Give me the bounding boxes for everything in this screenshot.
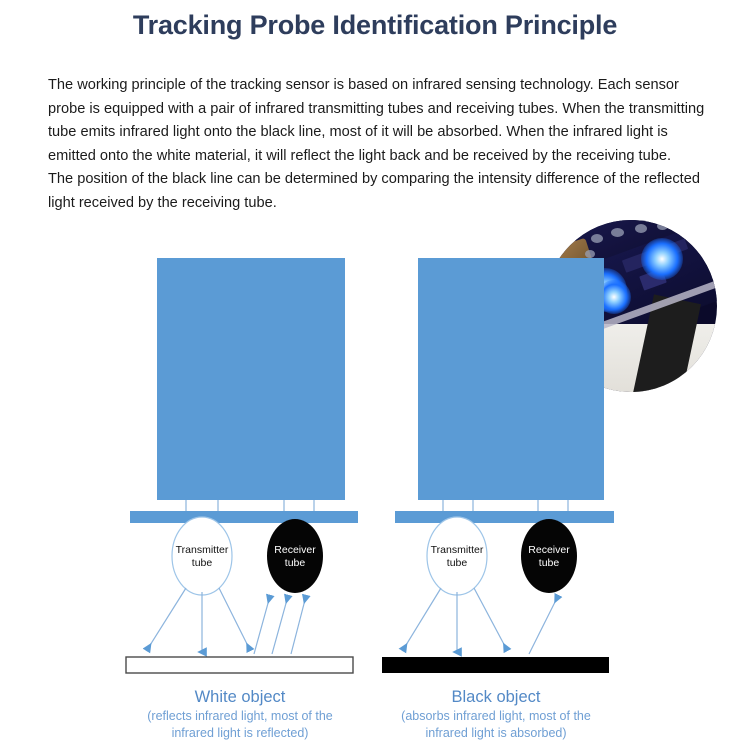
transmitter-tube-label-line1: Transmitter — [414, 544, 500, 557]
transmitter-tube-label-line2: tube — [414, 557, 500, 570]
emitted-ray — [403, 588, 441, 650]
receiver-tube-label: Receiver tube — [252, 544, 338, 570]
transmitter-tube-label-line1: Transmitter — [159, 544, 245, 557]
emitted-ray — [219, 588, 250, 650]
black-object-caption: Black object (absorbs infrared light, mo… — [371, 686, 621, 742]
black-object-surface — [382, 657, 609, 673]
led-indicator — [641, 238, 683, 280]
paragraph-2: The position of the black line can be de… — [48, 168, 710, 215]
paragraph-1: The working principle of the tracking se… — [48, 74, 710, 168]
black-object-subtitle-line1: (absorbs infrared light, most of the — [371, 708, 621, 725]
receiver-tube-label-line2: tube — [252, 557, 338, 570]
pcb-solder — [591, 234, 603, 243]
white-object-subtitle-line1: (reflects infrared light, most of the — [115, 708, 365, 725]
receiver-tube-label: Receiver tube — [506, 544, 592, 570]
emitted-ray — [147, 588, 186, 650]
white-object-diagram — [126, 258, 358, 673]
white-object-surface — [126, 657, 353, 673]
transmitter-tube-label-line2: tube — [159, 557, 245, 570]
reflected-ray — [254, 596, 270, 654]
white-object-subtitle-line2: infrared light is reflected) — [115, 725, 365, 742]
sensor-board-photo — [545, 220, 717, 392]
pcb-solder — [611, 228, 624, 237]
reflected-ray — [529, 596, 558, 654]
transmitter-tube-label: Transmitter tube — [414, 544, 500, 570]
reflected-ray — [272, 596, 288, 654]
black-object-subtitle-line2: infrared light is absorbed) — [371, 725, 621, 742]
pcb-solder — [585, 250, 595, 258]
intro-text-block: The working principle of the tracking se… — [48, 74, 710, 215]
probe-board-bar — [395, 511, 614, 523]
led-indicator — [597, 280, 631, 314]
white-object-caption: White object (reflects infrared light, m… — [115, 686, 365, 742]
emitted-ray — [474, 588, 507, 650]
sensor-body-panel — [157, 258, 345, 500]
black-object-title: Black object — [371, 686, 621, 708]
pcb-solder — [635, 224, 647, 233]
receiver-tube-label-line1: Receiver — [506, 544, 592, 557]
probe-board-bar — [130, 511, 358, 523]
white-object-title: White object — [115, 686, 365, 708]
page-root: Tracking Probe Identification Principle … — [0, 0, 750, 750]
led-indicator — [563, 286, 583, 306]
pcb-solder — [657, 222, 668, 230]
reflected-ray — [291, 596, 306, 654]
transmitter-tube-label: Transmitter tube — [159, 544, 245, 570]
receiver-tube-label-line1: Receiver — [252, 544, 338, 557]
page-title: Tracking Probe Identification Principle — [0, 8, 750, 42]
receiver-tube-label-line2: tube — [506, 557, 592, 570]
